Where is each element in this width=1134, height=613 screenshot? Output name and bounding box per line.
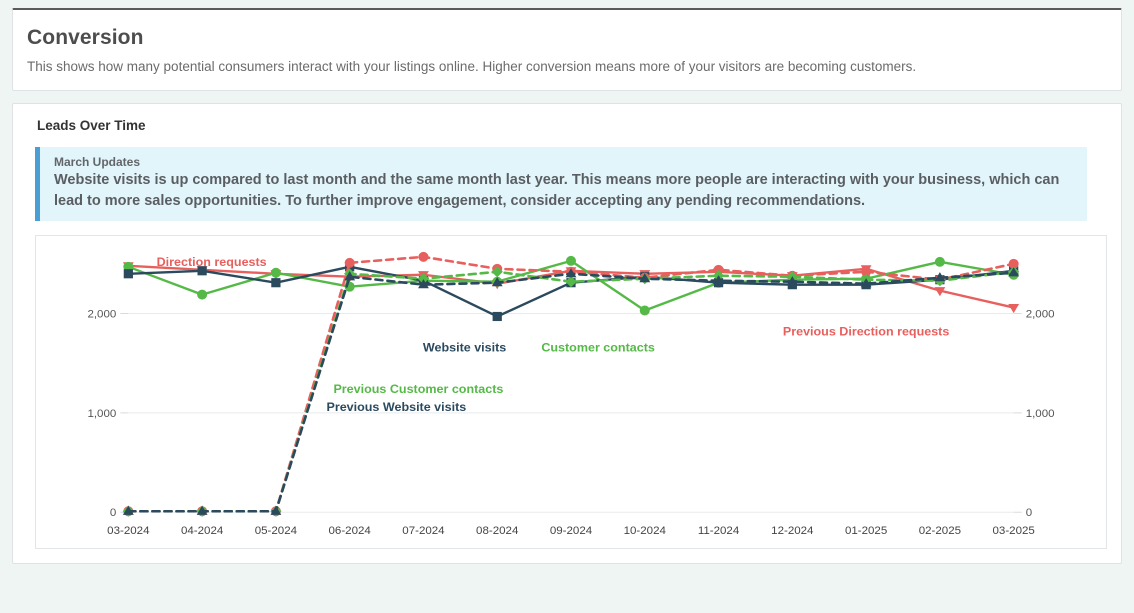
data-point[interactable]	[1008, 304, 1019, 313]
svg-text:08-2024: 08-2024	[476, 526, 519, 538]
svg-text:06-2024: 06-2024	[329, 526, 372, 538]
chart-series-group[interactable]	[123, 252, 1020, 517]
section-title: Leads Over Time	[37, 118, 1107, 133]
svg-text:05-2024: 05-2024	[255, 526, 298, 538]
callout-body: Website visits is up compared to last mo…	[54, 170, 1073, 211]
series-previous-website-visits[interactable]	[123, 268, 1019, 516]
chart-x-axis: 03-202404-202405-202406-202407-202408-20…	[107, 526, 1035, 538]
data-point[interactable]	[935, 257, 945, 267]
leads-chart-plot[interactable]: 01,0002,000 01,0002,000 03-202404-202405…	[35, 235, 1107, 549]
svg-text:02-2025: 02-2025	[919, 526, 961, 538]
svg-text:2,000: 2,000	[87, 309, 116, 321]
series-line	[128, 273, 1013, 511]
leads-over-time-card: Leads Over Time March Updates Website vi…	[12, 103, 1122, 564]
series-annotation: Direction requests	[157, 255, 267, 269]
svg-text:04-2024: 04-2024	[181, 526, 224, 538]
data-point[interactable]	[640, 306, 650, 316]
svg-text:03-2024: 03-2024	[107, 526, 150, 538]
series-annotation: Previous Direction requests	[783, 325, 950, 339]
svg-text:01-2025: 01-2025	[845, 526, 887, 538]
conversion-page: Conversion This shows how many potential…	[0, 0, 1134, 613]
data-point[interactable]	[271, 279, 280, 288]
series-line	[128, 272, 1013, 511]
series-line	[128, 257, 1013, 511]
page-title: Conversion	[27, 26, 1107, 50]
series-annotation: Previous Customer contacts	[333, 382, 503, 396]
conversion-header-card: Conversion This shows how many potential…	[12, 8, 1122, 91]
svg-text:09-2024: 09-2024	[550, 526, 593, 538]
series-annotation: Customer contacts	[541, 341, 655, 355]
svg-text:0: 0	[1026, 508, 1032, 520]
series-annotation: Previous Website visits	[326, 400, 466, 414]
svg-text:1,000: 1,000	[1026, 408, 1055, 420]
data-point[interactable]	[197, 290, 207, 300]
series-previous-direction-requests[interactable]	[123, 252, 1018, 516]
page-subtitle: This shows how many potential consumers …	[27, 58, 1107, 76]
series-annotation: Website visits	[423, 341, 506, 355]
chart-y-axis-left: 01,0002,000	[87, 309, 128, 520]
svg-text:2,000: 2,000	[1026, 309, 1055, 321]
data-point[interactable]	[566, 256, 576, 266]
leads-line-chart[interactable]: 01,0002,000 01,0002,000 03-202404-202405…	[36, 236, 1106, 548]
svg-text:0: 0	[110, 508, 116, 520]
callout-kicker: March Updates	[54, 155, 1073, 169]
svg-text:10-2024: 10-2024	[624, 526, 667, 538]
chart-y-axis-right: 01,0002,000	[1014, 309, 1055, 520]
svg-text:11-2024: 11-2024	[698, 526, 740, 538]
svg-text:03-2025: 03-2025	[993, 526, 1035, 538]
data-point[interactable]	[124, 270, 133, 279]
data-point[interactable]	[345, 258, 355, 268]
svg-text:12-2024: 12-2024	[771, 526, 814, 538]
svg-text:1,000: 1,000	[87, 408, 116, 420]
march-updates-callout: March Updates Website visits is up compa…	[35, 147, 1087, 221]
data-point[interactable]	[493, 312, 502, 321]
svg-text:07-2024: 07-2024	[402, 526, 445, 538]
data-point[interactable]	[418, 252, 428, 262]
data-point[interactable]	[271, 268, 281, 278]
series-previous-customer-contacts[interactable]	[123, 267, 1020, 518]
